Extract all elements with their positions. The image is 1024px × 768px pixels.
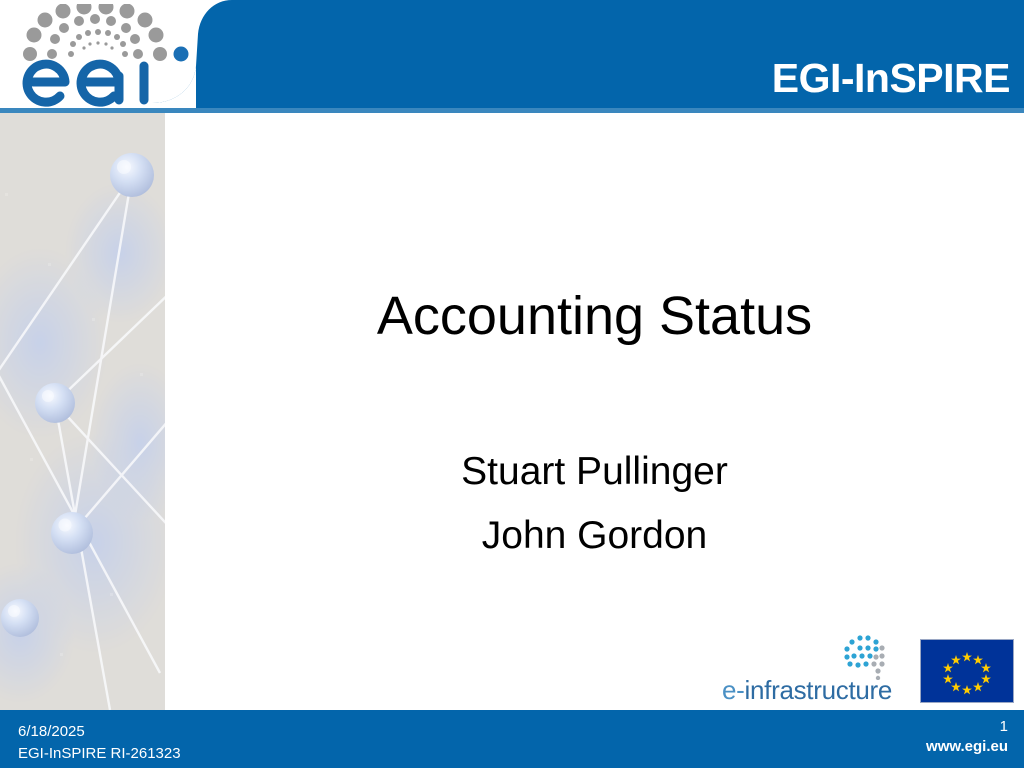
footer-right-text: 1 www.egi.eu [926, 717, 1008, 758]
sidebar-decorative-image [0, 113, 165, 710]
footer-website-link[interactable]: www.egi.eu [926, 737, 1008, 757]
slide-header: EGI-InSPIRE [0, 0, 1024, 110]
slide-page-number: 1 [926, 717, 1008, 737]
slide-title: Accounting Status [165, 287, 1024, 346]
e-infrastructure-word: infrastructure [745, 675, 893, 705]
author-name-1: Stuart Pullinger [165, 440, 1024, 504]
e-infrastructure-dot-mark-icon [838, 634, 896, 680]
slide-footer: 6/18/2025 EGI-InSPIRE RI-261323 1 www.eg… [0, 710, 1024, 768]
e-infrastructure-wordmark: e-infrastructure [722, 675, 892, 706]
project-title: EGI-InSPIRE [772, 58, 1010, 99]
author-name-2: John Gordon [165, 504, 1024, 568]
e-infrastructure-logo: e-infrastructure [722, 634, 900, 706]
egi-logo [18, 4, 208, 108]
e-infrastructure-prefix: e- [722, 675, 745, 705]
footer-project-ref: EGI-InSPIRE RI-261323 [18, 743, 181, 765]
network-nodes-graphic [0, 113, 165, 710]
egi-wordmark-icon [20, 56, 192, 108]
presentation-slide: EGI-InSPIRE [0, 0, 1024, 768]
slide-authors: Stuart Pullinger John Gordon [165, 440, 1024, 569]
european-union-flag-icon [920, 639, 1014, 703]
footer-date: 6/18/2025 [18, 721, 181, 743]
footer-left-text: 6/18/2025 EGI-InSPIRE RI-261323 [18, 721, 181, 765]
eu-stars [921, 640, 1013, 702]
